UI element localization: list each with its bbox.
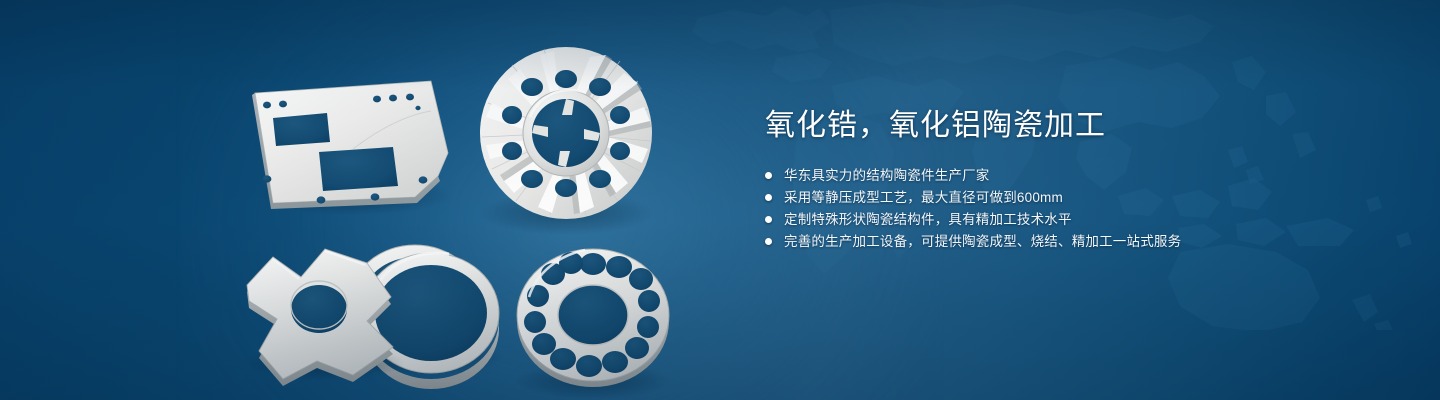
bullet-dot-icon	[765, 194, 772, 201]
bullet-dot-icon	[765, 238, 772, 245]
feature-bullet-list: 华东具实力的结构陶瓷件生产厂家 采用等静压成型工艺，最大直径可做到600mm 定…	[765, 165, 1385, 252]
bullet-text: 采用等静压成型工艺，最大直径可做到600mm	[784, 187, 1063, 208]
bullet-text: 完善的生产加工设备，可提供陶瓷成型、烧结、精加工一站式服务	[784, 231, 1181, 252]
hero-banner: 氧化锆，氧化铝陶瓷加工 华东具实力的结构陶瓷件生产厂家 采用等静压成型工艺，最大…	[0, 0, 1440, 400]
list-item: 定制特殊形状陶瓷结构件，具有精加工技术水平	[765, 209, 1385, 230]
list-item: 华东具实力的结构陶瓷件生产厂家	[765, 165, 1385, 186]
bullet-text: 定制特殊形状陶瓷结构件，具有精加工技术水平	[784, 209, 1072, 230]
list-item: 完善的生产加工设备，可提供陶瓷成型、烧结、精加工一站式服务	[765, 231, 1385, 252]
bullet-dot-icon	[765, 172, 772, 179]
bullet-dot-icon	[765, 216, 772, 223]
list-item: 采用等静压成型工艺，最大直径可做到600mm	[765, 187, 1385, 208]
banner-headline: 氧化锆，氧化铝陶瓷加工	[765, 108, 1385, 143]
banner-copy: 氧化锆，氧化铝陶瓷加工 华东具实力的结构陶瓷件生产厂家 采用等静压成型工艺，最大…	[765, 108, 1385, 253]
bullet-text: 华东具实力的结构陶瓷件生产厂家	[784, 165, 990, 186]
